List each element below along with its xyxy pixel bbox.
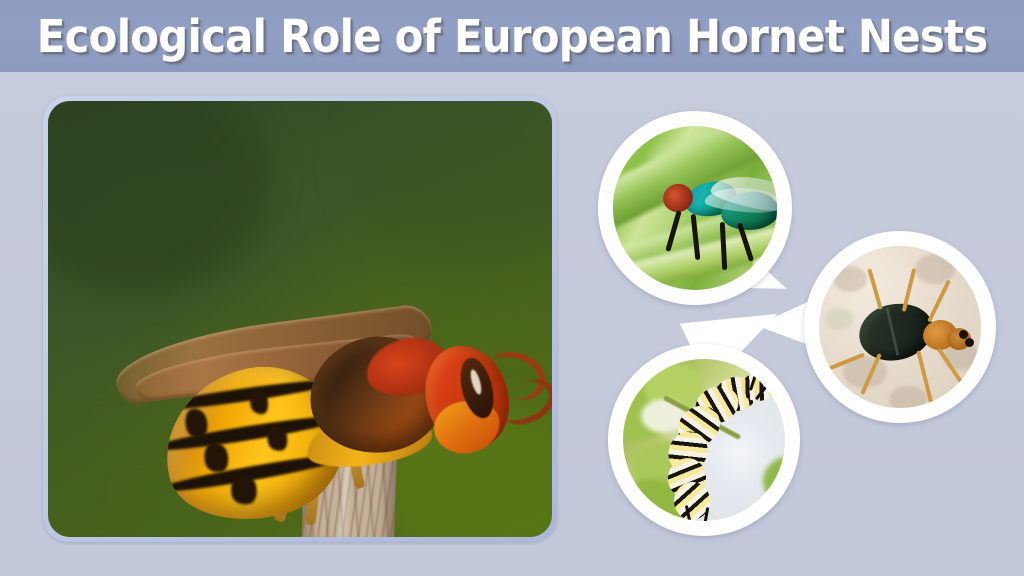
- beetle-leg: [867, 268, 882, 309]
- bokeh-blotch: [48, 101, 268, 291]
- prey-fly-callout[interactable]: [598, 111, 792, 305]
- page-title: Ecological Role of European Hornet Nests: [37, 14, 988, 59]
- title-banner: Ecological Role of European Hornet Nests: [0, 0, 1024, 72]
- european-hornet-on-twig: [48, 101, 552, 537]
- beetle-leg: [927, 279, 951, 322]
- prey-beetle-image: [819, 246, 981, 408]
- prey-beetle-callout[interactable]: [804, 231, 996, 423]
- dew-droplet: [753, 258, 767, 272]
- sand-grit: [825, 308, 853, 330]
- leaf: [763, 455, 785, 507]
- hero-photo-frame: [43, 96, 557, 542]
- sand-grit: [889, 386, 927, 408]
- slide-canvas: Ecological Role of European Hornet Nests: [0, 0, 1024, 576]
- bokeh-blotch: [348, 101, 552, 261]
- prey-fly-image: [613, 126, 777, 290]
- sand-grit: [833, 266, 867, 292]
- beetle-eye: [965, 338, 974, 347]
- prey-caterpillar-image: [623, 359, 785, 521]
- prey-caterpillar-callout[interactable]: [608, 344, 800, 536]
